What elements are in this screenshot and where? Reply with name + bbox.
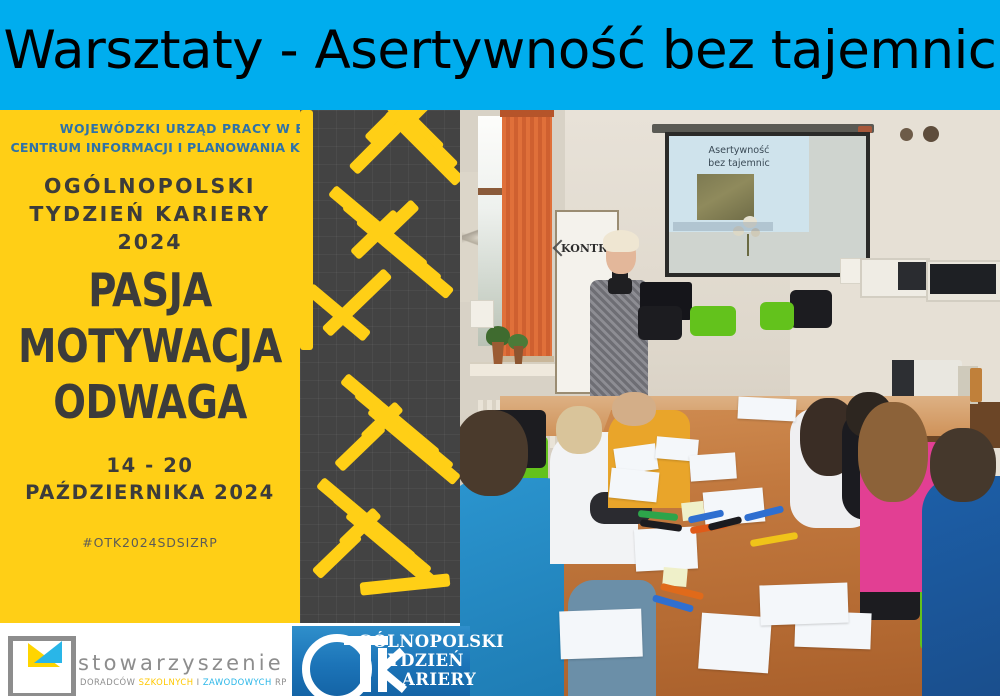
paper-sheet [759, 582, 848, 625]
projection-screen: Asertywność bez tajemnic [669, 136, 866, 273]
otk-word-1: GÓLNOPOLSKI [358, 632, 504, 651]
participant-head [858, 402, 928, 502]
paper-sheet [689, 452, 737, 481]
otk-logo: GÓLNOPOLSKI YDZIEŃ ARIERY [292, 626, 470, 696]
page-title: Warsztaty - Asertywność bez tajemnic [0, 8, 1000, 94]
ribbon-shape [300, 110, 313, 350]
slide-flower-image [697, 174, 754, 220]
cabinet-glass [930, 264, 996, 294]
workshop-photo: Asertywność bez tajemnic KONTRa [460, 110, 1000, 696]
sdsiz-subtitle-part: SZKOLNYCH [139, 677, 194, 687]
poster-hashtag: #OTK2024SDSIZRP [0, 535, 300, 550]
slide-title: Asertywność bez tajemnic [669, 144, 809, 170]
presentation-slide: Asertywność bez tajemnic [669, 136, 809, 232]
window-sill [470, 362, 560, 376]
otk-poster: WOJEWÓDZKI URZĄD PRACY W BIAŁYMSTOKU CEN… [0, 110, 460, 623]
header-banner: Warsztaty - Asertywność bez tajemnic [0, 0, 1000, 110]
presenter-hair [603, 230, 639, 252]
bottle [970, 368, 982, 402]
poster-dates: 14 - 20 PAŹDZIERNIKA 2024 [0, 452, 300, 506]
wall-sensor-icon [923, 126, 939, 142]
chair-green [690, 306, 736, 336]
otk-word-2: YDZIEŃ [388, 651, 464, 670]
sdsiz-subtitle-part: I [194, 677, 203, 687]
blinds-rail [500, 110, 554, 117]
poster-graphic-panel [300, 110, 460, 623]
date-line-1: 14 - 20 [0, 452, 300, 479]
sdsiz-subtitle-part: RP [272, 677, 287, 687]
flower-stem [747, 234, 749, 256]
slide-title-line-1: Asertywność [669, 144, 809, 157]
sdsiz-name: stowarzyszenie [78, 651, 284, 675]
paper-sheet [609, 468, 660, 503]
content-area: WOJEWÓDZKI URZĄD PRACY W BIAŁYMSTOKU CEN… [0, 110, 1000, 696]
wall-speaker-icon [900, 128, 913, 141]
event-line-2: TYDZIEŃ KARIERY [0, 200, 300, 228]
sdsiz-subtitle-part: DORADCÓW [80, 677, 139, 687]
sdsiz-logo: stowarzyszenie DORADCÓW SZKOLNYCH I ZAWO… [6, 633, 278, 691]
cabinet-glass [898, 262, 926, 290]
wall-panel [840, 258, 862, 284]
poster-slogan: PASJA MOTYWACJA ODWAGA [0, 262, 300, 430]
slide-footer-text [673, 222, 773, 231]
event-year: 2024 [0, 228, 300, 256]
chair-green [760, 302, 794, 330]
window-blinds [502, 112, 552, 362]
slogan-word-3: ODWAGA [11, 374, 290, 430]
slogan-word-1: PASJA [11, 262, 290, 318]
logo-strip: stowarzyszenie DORADCÓW SZKOLNYCH I ZAWO… [0, 623, 460, 696]
event-line-1: OGÓLNOPOLSKI [0, 172, 300, 200]
wall-switch [470, 300, 494, 328]
participant-head [930, 428, 996, 502]
participant-body [460, 478, 564, 696]
participant-head [460, 410, 528, 496]
sdsiz-subtitle: DORADCÓW SZKOLNYCH I ZAWODOWYCH RP [80, 677, 287, 687]
poster-event-name: OGÓLNOPOLSKI TYDZIEŃ KARIERY 2024 [0, 172, 300, 256]
sdsiz-subtitle-part: ZAWODOWYCH [203, 677, 272, 687]
slogan-word-2: MOTYWACJA [11, 318, 290, 374]
participant-head [612, 392, 656, 426]
paper-sheet [634, 526, 698, 571]
otk-word-3: ARIERY [402, 670, 476, 689]
slide-title-line-2: bez tajemnic [669, 157, 809, 170]
participant-head [556, 406, 602, 454]
chair-black [638, 306, 682, 340]
workshop-announcement-page: Warsztaty - Asertywność bez tajemnic WOJ… [0, 0, 1000, 696]
paper-sheet [559, 609, 643, 660]
chair-black [790, 290, 832, 328]
paper-sheet [737, 396, 796, 421]
participant-body [922, 476, 1000, 696]
date-line-2: PAŹDZIERNIKA 2024 [0, 479, 300, 506]
